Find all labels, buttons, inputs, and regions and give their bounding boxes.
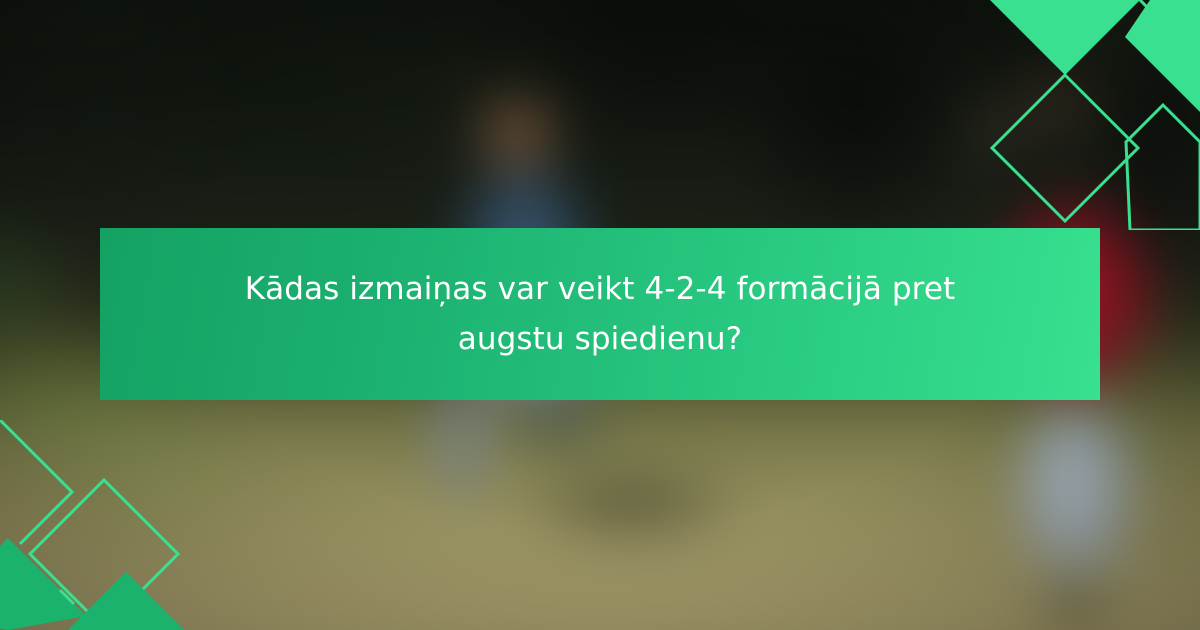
share-card: Kādas izmaiņas var veikt 4-2-4 formācijā… [0,0,1200,630]
question-banner: Kādas izmaiņas var veikt 4-2-4 formācijā… [100,228,1100,400]
question-text: Kādas izmaiņas var veikt 4-2-4 formācijā… [190,264,1010,364]
